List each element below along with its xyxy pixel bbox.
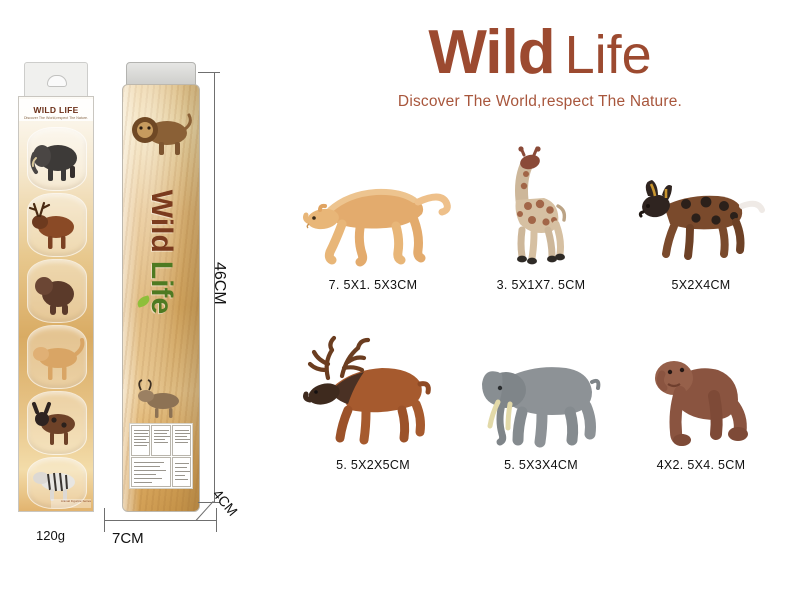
warning-box (151, 425, 170, 456)
product-item-gorilla: 4X2. 5X4. 5CM (618, 320, 784, 495)
dimension-tick-left (104, 508, 105, 532)
product-item-elephant: 5. 5X3X4CM (458, 320, 624, 495)
tube-brand-secondary: Life (145, 261, 178, 314)
product-item-caribou: 5. 5X2X5CM (290, 320, 456, 495)
gorilla-figure-icon (28, 260, 86, 322)
lion-graphic-icon (129, 99, 193, 161)
dimension-tick-top (198, 72, 220, 73)
card-brand-text: WILD LIFE (33, 105, 78, 115)
product-size-label: 5X2X4CM (618, 278, 784, 292)
wild-dog-figure-icon (28, 392, 86, 454)
tagline: Discover The World,respect The Nature. (330, 93, 750, 111)
page-title: WildLife Discover The World,respect The … (330, 22, 750, 111)
caribou-figure-icon (290, 320, 456, 455)
warning-box (172, 457, 191, 488)
blister-bubble (27, 391, 87, 455)
blister-bubble (27, 325, 87, 389)
title-primary: Wild (428, 18, 554, 87)
title-secondary: Life (565, 25, 652, 85)
elephant-figure-icon (28, 128, 86, 190)
wild-dog-figure-icon (618, 140, 784, 275)
product-item-giraffe: 3. 5X1X7. 5CM (458, 140, 624, 315)
warning-box (131, 457, 171, 488)
cougar-figure-icon (290, 140, 456, 275)
product-size-label: 4X2. 5X4. 5CM (618, 458, 784, 472)
blister-bubble (27, 127, 87, 191)
product-size-label: 7. 5X1. 5X3CM (290, 278, 456, 292)
product-item-wild-dog: 5X2X4CM (618, 140, 784, 315)
blister-bubble (27, 259, 87, 323)
catalog-page: WildLife Discover The World,respect The … (0, 0, 800, 600)
card-footer-brand-wrap: Animal Figurine Series (51, 499, 91, 508)
tube-body: WildLife (122, 84, 200, 512)
product-size-label: 5. 5X2X5CM (290, 458, 456, 472)
package-blister-card: WILD LIFE Discover The World,respect The… (18, 62, 92, 510)
gorilla-figure-icon (618, 320, 784, 455)
title-line: WildLife (330, 22, 750, 84)
blister-bubble (27, 193, 87, 257)
dimension-line-width (104, 520, 216, 521)
tube-brand-primary: Wild (145, 190, 178, 253)
product-grid: 7. 5X1. 5X3CM (290, 140, 790, 490)
card-footer-brand: Animal Figurine Series (51, 499, 91, 503)
warning-label (129, 423, 193, 489)
product-size-label: 3. 5X1X7. 5CM (458, 278, 624, 292)
dimension-height-label: 46CM (210, 262, 228, 305)
product-size-label: 5. 5X3X4CM (458, 458, 624, 472)
card-body: WILD LIFE Discover The World,respect The… (18, 96, 94, 512)
antelope-graphic-icon (131, 379, 191, 419)
dimension-width-label: 7CM (112, 530, 144, 547)
dimension-tick-right (216, 508, 217, 532)
dimension-depth-label: 4CM (210, 486, 241, 519)
warning-box (131, 425, 150, 456)
warning-box (172, 425, 191, 456)
card-subtitle: Discover The World,respect The Nature. (19, 116, 93, 120)
package-tube: WildLife (122, 62, 198, 510)
weight-label: 120g (36, 528, 65, 543)
deer-figure-icon (28, 194, 86, 256)
giraffe-figure-icon (458, 140, 624, 275)
elephant-figure-icon (458, 320, 624, 455)
product-item-cougar: 7. 5X1. 5X3CM (290, 140, 456, 315)
cougar-figure-icon (28, 326, 86, 388)
tube-brand: WildLife (144, 162, 178, 342)
